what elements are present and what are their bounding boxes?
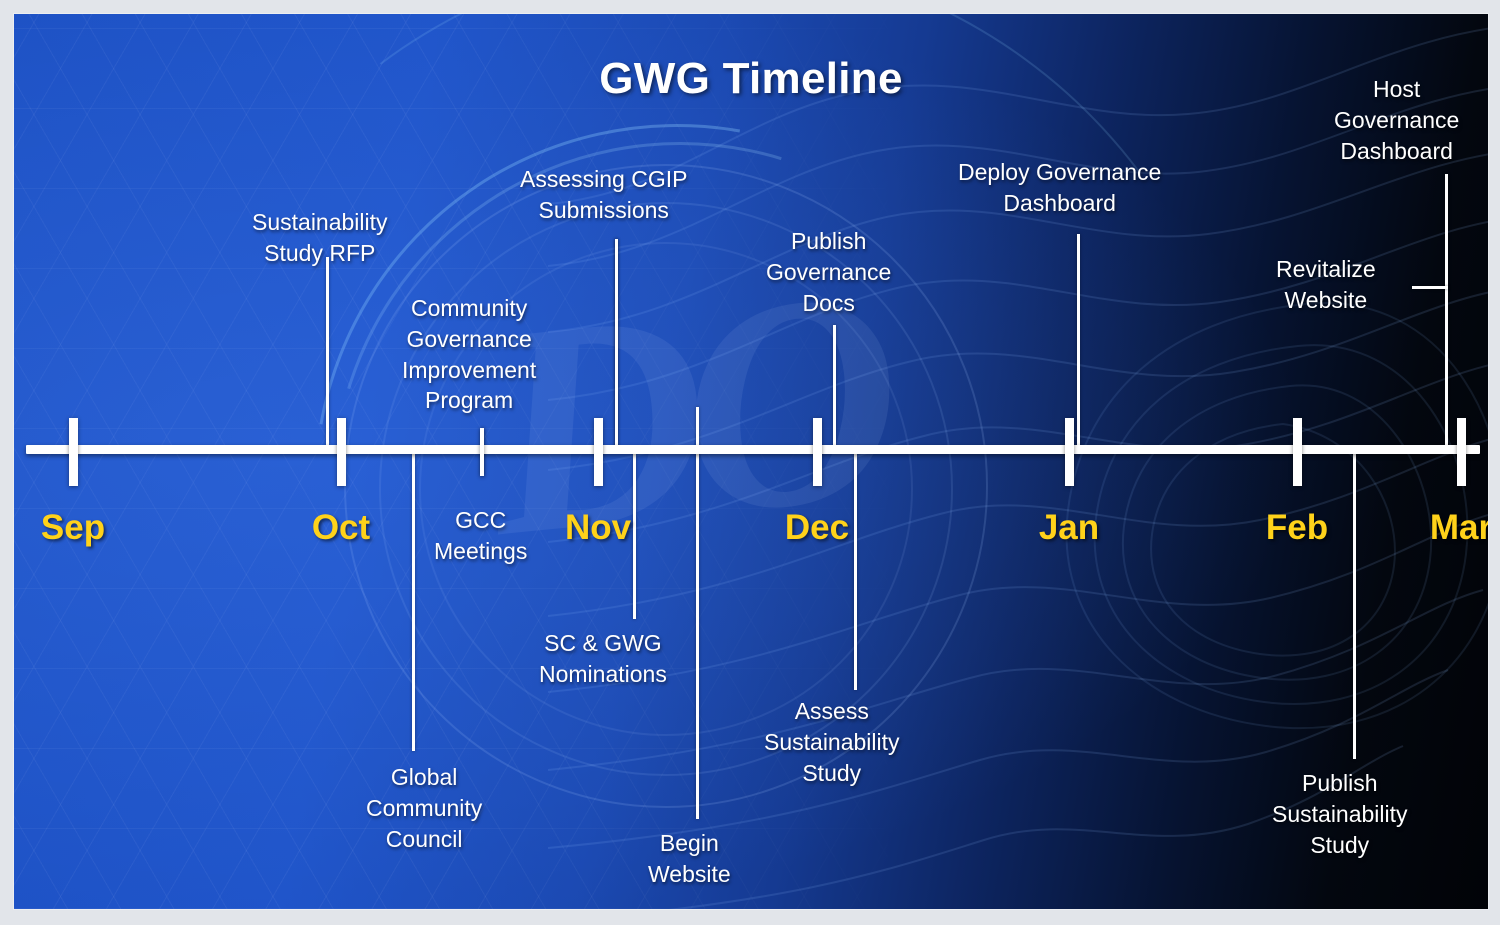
connector-global-community-council — [412, 454, 415, 751]
vignette-overlay — [14, 14, 1488, 909]
event-label-assessing-cgip-submissions[interactable]: Assessing CGIP Submissions — [520, 164, 687, 226]
event-label-begin-website[interactable]: Begin Website — [648, 828, 731, 890]
month-label-mar: Mar — [1430, 508, 1488, 548]
month-label-sep: Sep — [41, 508, 105, 548]
connector-publish-governance-docs — [833, 325, 836, 449]
slide-frame: DO GWG Timeline SepOctNovDecJanFebMar Su… — [0, 0, 1500, 925]
month-label-jan: Jan — [1039, 508, 1099, 548]
event-label-publish-governance-docs[interactable]: Publish Governance Docs — [766, 226, 891, 318]
event-label-gcc-meetings[interactable]: GCC Meetings — [434, 505, 527, 567]
axis-tick-jan — [1065, 418, 1074, 486]
axis-tick-feb — [1293, 418, 1302, 486]
event-label-global-community-council[interactable]: Global Community Council — [366, 762, 482, 854]
month-label-feb: Feb — [1266, 508, 1328, 548]
connector-deploy-governance-dashboard — [1077, 234, 1080, 449]
connector-assess-sustainability-study — [854, 454, 857, 690]
connector-host-governance-dashboard — [1445, 174, 1448, 449]
event-label-assess-sustainability-study[interactable]: Assess Sustainability Study — [764, 696, 900, 788]
connector-sustainability-study-rfp — [326, 257, 329, 449]
timeline-axis — [26, 445, 1480, 454]
axis-tick-nov — [594, 418, 603, 486]
connector-sc-gwg-nominations — [633, 454, 636, 619]
axis-tick-sep — [69, 418, 78, 486]
page-title: GWG Timeline — [14, 54, 1488, 104]
axis-minor-tick-0 — [480, 428, 484, 476]
axis-tick-oct — [337, 418, 346, 486]
axis-tick-dec — [813, 418, 822, 486]
event-label-community-governance-improvement-program[interactable]: Community Governance Improvement Program — [402, 293, 536, 416]
connector-assessing-cgip-submissions — [615, 239, 618, 449]
event-label-sustainability-study-rfp[interactable]: Sustainability Study RFP — [252, 207, 388, 269]
connector-begin-website — [696, 407, 699, 819]
timeline-canvas: DO GWG Timeline SepOctNovDecJanFebMar Su… — [14, 14, 1488, 909]
event-label-publish-sustainability-study[interactable]: Publish Sustainability Study — [1272, 768, 1408, 860]
axis-tick-mar — [1457, 418, 1466, 486]
connector-revitalize-website — [1412, 286, 1448, 289]
event-label-revitalize-website[interactable]: Revitalize Website — [1276, 254, 1376, 316]
month-label-dec: Dec — [785, 508, 849, 548]
month-label-nov: Nov — [565, 508, 631, 548]
month-label-oct: Oct — [312, 508, 370, 548]
event-label-deploy-governance-dashboard[interactable]: Deploy Governance Dashboard — [958, 157, 1161, 219]
event-label-sc-gwg-nominations[interactable]: SC & GWG Nominations — [539, 628, 667, 690]
connector-publish-sustainability-study — [1353, 454, 1356, 759]
